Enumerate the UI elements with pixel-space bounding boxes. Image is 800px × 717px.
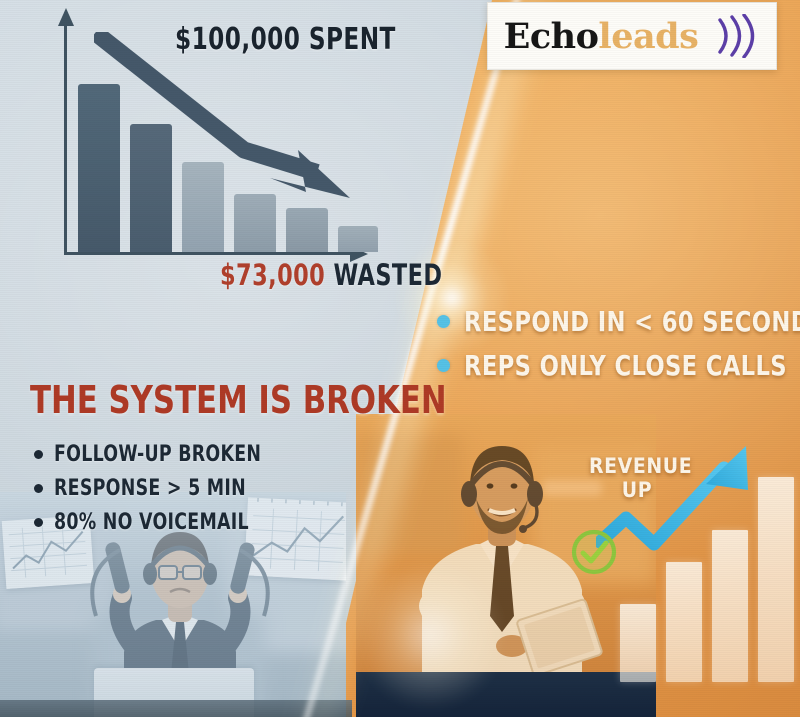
left-bullet-list: FOLLOW-UP BROKEN RESPONSE > 5 MIN 80% NO…	[34, 442, 290, 544]
wasted-amount: $73,000	[220, 258, 325, 292]
revenue-bar-2	[666, 562, 702, 682]
declining-trend-arrow-icon	[94, 32, 384, 212]
spend-bar-6	[338, 226, 378, 252]
right-bullet-label: REPS ONLY CLOSE CALLS	[464, 349, 787, 382]
left-bullet-label: FOLLOW-UP BROKEN	[54, 442, 261, 467]
left-bullet-label: RESPONSE > 5 MIN	[54, 476, 246, 501]
left-bullet-label: 80% NO VOICEMAIL	[54, 510, 249, 535]
revenue-line-1: REVENUE	[589, 455, 685, 479]
list-item: 80% NO VOICEMAIL	[34, 510, 290, 535]
right-bullet-list: RESPOND IN < 60 SECONDS REPS ONLY CLOSE …	[437, 305, 800, 393]
bullet-dot-icon	[34, 518, 43, 527]
broken-headline: THE SYSTEM IS BROKEN	[30, 378, 447, 422]
logo-leads-text: leads	[598, 16, 698, 57]
list-item: REPS ONLY CLOSE CALLS	[437, 349, 800, 382]
bullet-dot-icon	[34, 450, 43, 459]
wasted-label: $73,000 WASTED	[220, 258, 442, 292]
list-item: RESPONSE > 5 MIN	[34, 476, 290, 501]
revenue-line-2: UP	[589, 479, 685, 503]
agent-desk	[356, 672, 656, 717]
check-circle-icon	[570, 528, 618, 576]
logo-wordmark: Echoleads	[504, 19, 699, 54]
list-item: RESPOND IN < 60 SECONDS	[437, 305, 800, 338]
revenue-up-label: REVENUE UP	[589, 455, 685, 502]
revenue-bar-1	[620, 604, 656, 682]
spent-label: $100,000 SPENT	[175, 22, 396, 57]
sound-wave-icon	[708, 14, 760, 58]
y-axis	[64, 22, 67, 254]
bullet-dot-icon	[437, 359, 450, 372]
spend-bar-5	[286, 208, 328, 252]
right-bullet-label: RESPOND IN < 60 SECONDS	[464, 305, 800, 338]
infographic-canvas: $100,000 SPENT $73,000 WASTED THE SYSTEM…	[0, 0, 800, 717]
bullet-dot-icon	[437, 315, 450, 328]
brand-logo[interactable]: Echoleads	[487, 2, 777, 70]
bullet-dot-icon	[34, 484, 43, 493]
left-desk-edge	[0, 700, 352, 717]
logo-echo-text: Echo	[504, 16, 599, 57]
x-axis	[64, 252, 356, 255]
wasted-word: WASTED	[333, 258, 442, 292]
list-item: FOLLOW-UP BROKEN	[34, 442, 290, 467]
